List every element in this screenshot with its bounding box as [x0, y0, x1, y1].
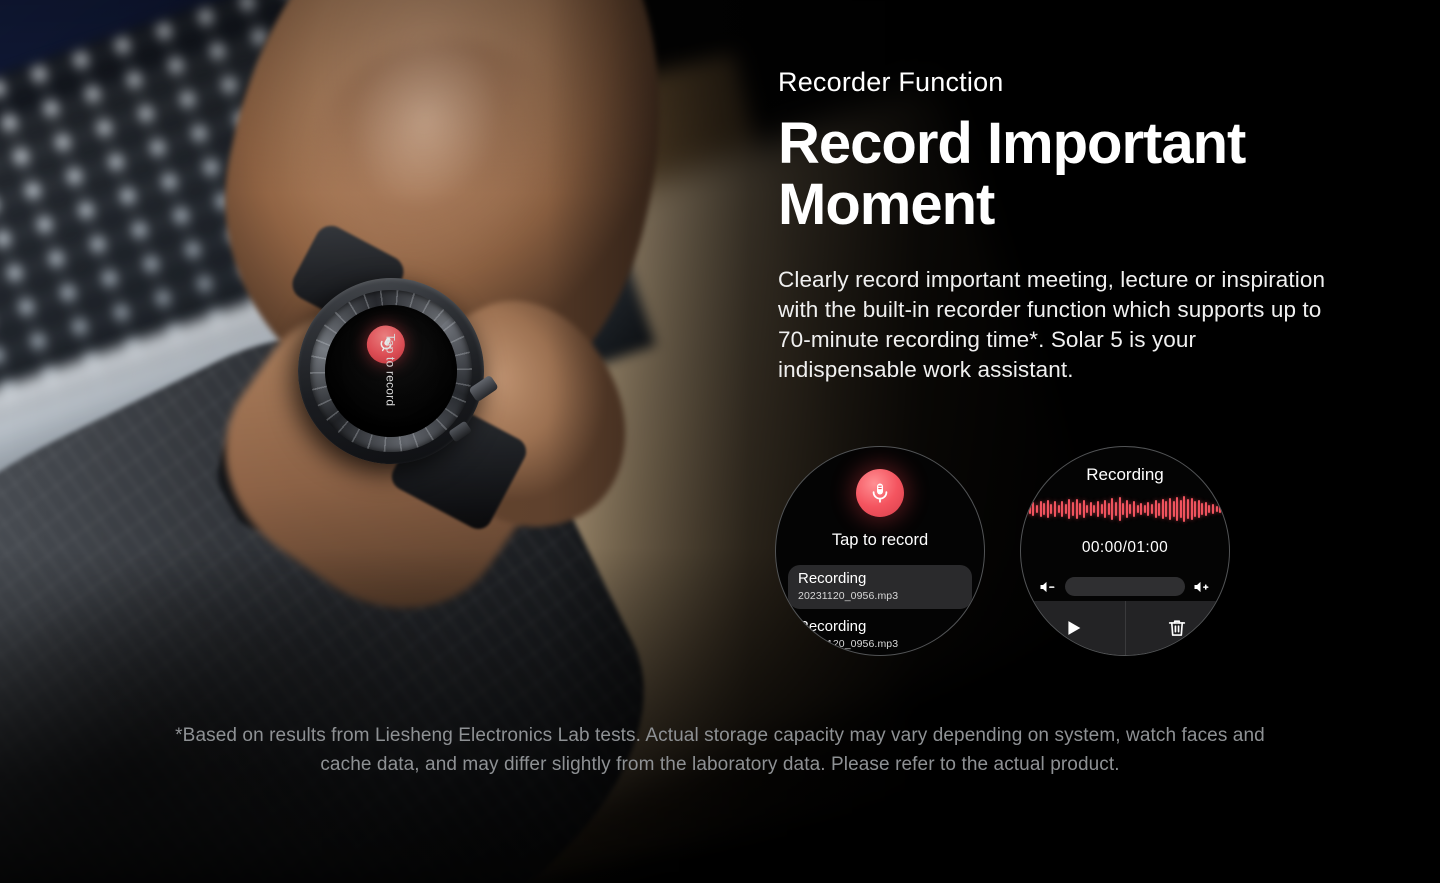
volume-control[interactable]: [1039, 577, 1211, 596]
recording-list[interactable]: Recording 20231120_0956.mp3 Recording 20…: [788, 565, 972, 656]
waveform-bar: [1040, 501, 1042, 517]
waveform-bar: [1032, 502, 1034, 516]
microphone-icon[interactable]: [856, 469, 904, 517]
playback-timer: 00:00/01:00: [1021, 539, 1229, 557]
waveform-bar: [1140, 503, 1142, 514]
waveform-bar: [1169, 498, 1171, 521]
waveform-bar: [1158, 503, 1160, 516]
waveform-bar: [1223, 506, 1225, 511]
waveform-bar: [1176, 497, 1178, 522]
waveform-bar: [1101, 504, 1103, 514]
waveform-bar: [1212, 504, 1214, 514]
waveform-bar: [1061, 501, 1063, 518]
waveform-bar: [1187, 499, 1189, 518]
waveform-bar: [1190, 498, 1192, 521]
speaker-plus-icon[interactable]: [1193, 579, 1211, 595]
waveform-bar: [1036, 505, 1038, 514]
product-feature-banner: Tap to record Recorder Function Record I…: [0, 0, 1440, 883]
waveform-bar: [1226, 506, 1228, 512]
audio-waveform: [1020, 496, 1230, 522]
waveform-bar: [1090, 502, 1092, 516]
recording-title: Recording: [798, 571, 962, 588]
speaker-minus-icon[interactable]: [1039, 579, 1057, 595]
recording-title: Recording: [798, 619, 962, 636]
waveform-bar: [1047, 500, 1049, 518]
waveform-bar: [1065, 504, 1067, 515]
waveform-bar: [1201, 503, 1203, 515]
delete-button[interactable]: [1125, 601, 1230, 655]
waveform-bar: [1043, 503, 1045, 515]
waveform-bar: [1144, 505, 1146, 514]
playback-button-bar: [1021, 601, 1229, 655]
waveform-bar: [1097, 501, 1099, 517]
list-item[interactable]: Recording 20231120_0956.mp3: [788, 565, 972, 609]
waveform-bar: [1151, 504, 1153, 515]
waveform-bar: [1108, 503, 1110, 515]
waveform-bar: [1198, 500, 1200, 518]
list-item[interactable]: Recording 20231120_0956.mp3: [788, 613, 972, 656]
waveform-bar: [1183, 496, 1185, 522]
waveform-bar: [1072, 502, 1074, 516]
waveform-bar: [1173, 501, 1175, 518]
waveform-bar: [1147, 502, 1149, 517]
footnote-disclaimer: *Based on results from Liesheng Electron…: [150, 722, 1290, 779]
waveform-bar: [1137, 505, 1139, 512]
play-button[interactable]: [1021, 601, 1125, 655]
waveform-bar: [1086, 505, 1088, 514]
tap-to-record-label: Tap to record: [776, 531, 984, 550]
waveform-bar: [1208, 505, 1210, 514]
waveform-bar: [1075, 499, 1077, 520]
waveform-bar: [1115, 502, 1117, 517]
waveform-bar: [1216, 506, 1218, 513]
waveform-bar: [1162, 499, 1164, 519]
waveform-bar: [1029, 504, 1031, 514]
waveform-bar: [1079, 503, 1081, 514]
watch-ui-previews: Tap to record Recording 20231120_0956.mp…: [775, 446, 1235, 658]
copy-block: Recorder Function Record Important Momen…: [778, 66, 1326, 386]
waveform-bar: [1129, 504, 1131, 513]
waveform-bar: [1111, 498, 1113, 520]
waveform-bar: [1050, 504, 1052, 514]
play-icon: [1062, 617, 1084, 639]
waveform-bar: [1133, 501, 1135, 516]
waveform-bar: [1165, 501, 1167, 516]
recording-screen-title: Recording: [1021, 465, 1229, 485]
waveform-bar: [1194, 501, 1196, 517]
waveform-bar: [1025, 503, 1027, 514]
body-paragraph: Clearly record important meeting, lectur…: [778, 265, 1328, 386]
eyebrow-label: Recorder Function: [778, 66, 1326, 98]
waveform-bar: [1068, 499, 1070, 518]
waveform-bar: [1083, 500, 1085, 517]
waveform-bar: [1054, 501, 1056, 516]
waveform-bar: [1119, 497, 1121, 521]
waveform-bar: [1126, 500, 1128, 519]
page-title: Record Important Moment: [778, 114, 1326, 235]
recording-filename: 20231120_0956.mp3: [798, 638, 962, 650]
waveform-bar: [1122, 503, 1124, 515]
waveform-bar: [1058, 505, 1060, 513]
watch-ui-recording: Recording 00:00/01:00: [1020, 446, 1230, 656]
watch-ui-tap-to-record: Tap to record Recording 20231120_0956.mp…: [775, 446, 985, 656]
recording-filename: 20231120_0956.mp3: [798, 590, 962, 602]
waveform-bar: [1022, 505, 1024, 513]
waveform-bar: [1180, 500, 1182, 518]
waveform-bar: [1093, 505, 1095, 512]
trash-icon: [1166, 617, 1188, 639]
waveform-bar: [1155, 500, 1157, 518]
waveform-bar: [1205, 502, 1207, 516]
waveform-bar: [1104, 500, 1106, 518]
volume-slider[interactable]: [1065, 577, 1185, 596]
waveform-bar: [1219, 505, 1221, 513]
